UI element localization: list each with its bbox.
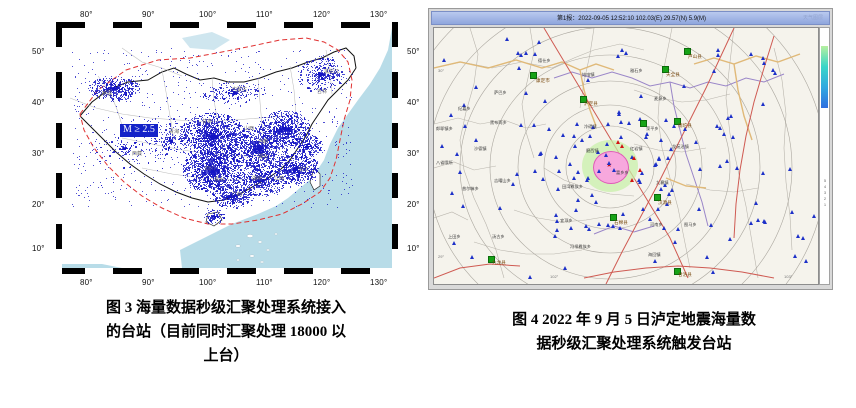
triggered-station-icon — [624, 51, 628, 55]
lon-tick-bottom-1: 90° — [142, 278, 155, 287]
figure-3-caption-line-1: 图 3 海量数据秒级汇聚处理系统接入 — [26, 296, 426, 320]
triggered-station-icon — [659, 187, 663, 191]
svg-text:30°: 30° — [438, 68, 444, 73]
triggered-station-icon — [641, 207, 645, 211]
triggered-station-icon — [498, 206, 502, 210]
alert-station-icon — [616, 140, 620, 144]
province-label-7: 山西 — [244, 125, 254, 132]
triggered-station-icon — [449, 113, 453, 117]
triggered-station-icon — [712, 69, 716, 73]
triggered-station-icon — [761, 102, 765, 106]
triggered-station-icon — [563, 266, 567, 270]
triggered-station-icon — [709, 223, 713, 227]
triggered-station-icon — [463, 124, 467, 128]
province-label-15: 广西 — [232, 191, 242, 198]
china-map-frame: 80° 90° 100° 110° 120° 130° 80° 90° 100°… — [32, 4, 422, 292]
triggered-station-icon — [586, 176, 590, 180]
figure-3-caption-line-3: 上台） — [26, 344, 426, 368]
lon-tick-top-1: 90° — [142, 10, 155, 19]
province-label-5: 西藏 — [132, 150, 142, 157]
triggered-station-icon — [470, 255, 474, 259]
triggered-station-icon — [697, 207, 701, 211]
province-label-13: 江西 — [274, 175, 284, 182]
place-label-2: 姑咱镇 — [582, 72, 595, 78]
lat-tick-left-1: 40° — [32, 98, 45, 107]
luding-map-canvas[interactable]: 102° 103° 30° 29° ★ 德仕乡康定市姑咱镇雅石乡天全县沪定县麦泉… — [433, 27, 819, 285]
triggered-station-icon — [537, 40, 541, 44]
triggered-station-icon — [556, 187, 560, 191]
triggered-station-icon — [793, 254, 797, 258]
triggered-station-icon — [715, 124, 719, 128]
alert-station-icon — [620, 144, 624, 148]
triggered-station-icon — [618, 226, 622, 230]
place-label-28: 图马乡 — [684, 222, 697, 228]
place-label-24: 汉源县 — [658, 200, 672, 206]
triggered-station-icon — [664, 118, 668, 122]
triggered-station-icon — [461, 204, 465, 208]
triggered-station-icon — [505, 37, 509, 41]
triggered-station-icon — [576, 170, 580, 174]
province-label-4: 青海 — [169, 128, 179, 135]
place-label-27: 河南乡 — [650, 222, 663, 228]
triggered-station-icon — [572, 134, 576, 138]
triggered-station-icon — [619, 120, 623, 124]
lat-tick-right-2: 30° — [407, 149, 420, 158]
lat-tick-left-4: 10° — [32, 244, 45, 253]
place-label-20: 九襄镇 — [656, 180, 669, 186]
triggered-station-icon — [590, 193, 594, 197]
triggered-station-icon — [533, 169, 537, 173]
lat-tick-left-3: 20° — [32, 200, 45, 209]
triggered-station-icon — [604, 153, 608, 157]
earthquake-report-title: 第1报：2022-09-05 12:52:10 102.03(E) 29.57(… — [432, 13, 831, 22]
triggered-station-icon — [569, 226, 573, 230]
lon-tick-top-3: 110° — [256, 10, 273, 19]
triggered-station-icon — [474, 85, 478, 89]
triggered-station-icon — [771, 68, 775, 72]
triggered-station-icon — [804, 259, 808, 263]
triggered-station-icon — [762, 61, 766, 65]
triggered-station-icon — [763, 220, 767, 224]
triggered-station-icon — [517, 66, 521, 70]
place-label-4: 天全县 — [666, 72, 680, 78]
triggered-station-icon — [541, 177, 545, 181]
lat-tick-left-2: 30° — [32, 149, 45, 158]
triggered-station-icon — [648, 217, 652, 221]
triggered-station-icon — [644, 135, 648, 139]
lon-tick-top-0: 80° — [80, 10, 93, 19]
triggered-station-icon — [722, 132, 726, 136]
lat-tick-right-4: 10° — [407, 244, 420, 253]
eew-application-window: 第1报：2022-09-05 12:52:10 102.03(E) 29.57(… — [428, 8, 833, 290]
triggered-station-icon — [594, 200, 598, 204]
scale-tick-group: 54321 — [821, 178, 829, 208]
lon-tick-bottom-5: 130° — [370, 278, 387, 287]
legend-sidepanel[interactable]: 54321 — [819, 27, 830, 285]
border-band-top — [56, 22, 398, 28]
triggered-station-icon — [682, 84, 686, 88]
triggered-station-icon — [731, 135, 735, 139]
triggered-station-icon — [553, 234, 557, 238]
weather-layer-label: 天气图层 — [803, 14, 823, 21]
triggered-station-icon — [554, 213, 558, 217]
triggered-station-icon — [694, 140, 698, 144]
triggered-station-icon — [761, 56, 765, 60]
triggered-station-icon — [575, 122, 579, 126]
place-label-5: 沪定县 — [584, 101, 598, 107]
triggered-station-icon — [586, 78, 590, 82]
figure-4-caption-line-1: 图 4 2022 年 9 月 5 日泸定地震海量数 — [432, 308, 836, 332]
alert-station-icon — [630, 178, 634, 182]
triggered-station-icon — [656, 207, 660, 211]
lon-tick-top-5: 130° — [370, 10, 387, 19]
triggered-station-icon — [653, 259, 657, 263]
triggered-station-icon — [659, 138, 663, 142]
triggered-station-icon — [561, 133, 565, 137]
triggered-station-icon — [705, 255, 709, 259]
triggered-station-icon — [511, 182, 515, 186]
place-label-7: 萨巴乡 — [494, 90, 507, 96]
triggered-station-icon — [639, 94, 643, 98]
triggered-station-icon — [653, 163, 657, 167]
triggered-station-icon — [573, 144, 577, 148]
intensity-color-scale — [821, 46, 828, 108]
place-label-9: 黑布两乡 — [490, 120, 507, 126]
place-label-18: 磨西镇 — [586, 148, 599, 154]
triggered-station-icon — [698, 167, 702, 171]
triggered-station-icon — [580, 138, 584, 142]
place-label-13: 雨坨县 — [678, 123, 692, 129]
place-label-32: 海回镇 — [648, 252, 661, 258]
china-map-canvas: 新疆内蒙古黑龙江吉林青海西藏甘肃山西河南湖北四川贵州湖南江西浙江广西 M ≥ 2… — [62, 28, 392, 268]
figure-4: 第1报：2022-09-05 12:52:10 102.03(E) 29.57(… — [428, 8, 833, 290]
place-label-11: 冷碛镇 — [584, 124, 597, 130]
triggered-station-icon — [773, 71, 777, 75]
lat-tick-right-0: 50° — [407, 47, 420, 56]
triggered-station-icon — [576, 198, 580, 202]
place-label-6: 麦泉乡 — [654, 96, 667, 102]
province-label-14: 浙江 — [298, 166, 308, 173]
triggered-station-icon — [574, 208, 578, 212]
triggered-station-icon — [452, 241, 456, 245]
triggered-station-icon — [605, 142, 609, 146]
province-label-12: 湖南 — [252, 175, 262, 182]
triggered-station-icon — [597, 222, 601, 226]
triggered-station-icon — [749, 221, 753, 225]
triggered-station-icon — [749, 52, 753, 56]
triggered-station-icon — [617, 110, 621, 114]
place-label-34: 甘洛县 — [678, 272, 692, 278]
triggered-station-icon — [637, 178, 641, 182]
svg-text:29°: 29° — [438, 254, 444, 259]
triggered-station-icon — [667, 192, 671, 196]
border-band-bottom — [56, 268, 398, 274]
triggered-station-icon — [627, 121, 631, 125]
province-label-9: 湖北 — [258, 153, 268, 160]
figure-3-caption: 图 3 海量数据秒级汇聚处理系统接入 的台站（目前同时汇聚处理 18000 以 … — [26, 296, 426, 368]
triggered-station-icon — [606, 122, 610, 126]
triggered-station-icon — [557, 169, 561, 173]
place-label-19: 富乡乡 — [616, 170, 629, 176]
triggered-station-icon — [458, 170, 462, 174]
place-label-1: 康定市 — [536, 78, 550, 84]
province-label-1: 内蒙古 — [232, 86, 247, 93]
triggered-station-icon — [666, 156, 670, 160]
triggered-station-icon — [670, 188, 674, 192]
lon-tick-top-2: 100° — [199, 10, 216, 19]
lon-tick-bottom-3: 110° — [256, 278, 273, 287]
lon-tick-bottom-0: 80° — [80, 278, 93, 287]
place-label-3: 雅石乡 — [630, 68, 643, 74]
triggered-station-icon — [607, 161, 611, 165]
triggered-station-icon — [801, 236, 805, 240]
province-label-8: 河南 — [258, 138, 268, 145]
border-band-left — [56, 22, 62, 274]
triggered-station-icon — [555, 219, 559, 223]
svg-text:103°: 103° — [784, 274, 793, 279]
triggered-station-icon — [619, 135, 623, 139]
triggered-station-icon — [524, 51, 528, 55]
place-label-15: 八省哦所 — [436, 160, 453, 166]
triggered-station-icon — [543, 99, 547, 103]
triggered-station-icon — [735, 166, 739, 170]
province-label-0: 新疆 — [102, 90, 112, 97]
place-label-21: 吉曜山乡 — [494, 178, 511, 184]
triggered-station-icon — [716, 53, 720, 57]
alert-station-icon — [632, 156, 636, 160]
place-label-10: 郎耶镇乡 — [436, 126, 453, 132]
place-label-22: 普尔嘛乡 — [462, 186, 479, 192]
triggered-station-icon — [812, 214, 816, 218]
place-label-25: 石棉县 — [614, 220, 628, 226]
triggered-station-icon — [524, 91, 528, 95]
triggered-station-icon — [718, 164, 722, 168]
lon-tick-top-4: 120° — [313, 10, 330, 19]
place-label-17: 龙苑治镇 — [672, 144, 689, 150]
province-label-10: 四川 — [205, 165, 215, 172]
figure-4-caption-line-2: 据秒级汇聚处理系统触发台站 — [432, 332, 836, 356]
triggered-station-icon — [440, 144, 444, 148]
place-label-30: 汤古乡 — [492, 234, 505, 240]
svg-text:102°: 102° — [550, 274, 559, 279]
figure-4-caption: 图 4 2022 年 9 月 5 日泸定地震海量数 据秒级汇聚处理系统触发台站 — [432, 308, 836, 356]
triggered-station-icon — [474, 138, 478, 142]
place-label-29: 上田乡 — [448, 234, 461, 240]
place-label-35: 芦山县 — [688, 54, 702, 60]
triggered-station-icon — [728, 237, 732, 241]
triggered-station-icon — [616, 54, 620, 58]
place-label-26: 宜顶乡 — [560, 218, 573, 224]
triggered-station-icon — [547, 127, 551, 131]
lat-tick-right-3: 20° — [407, 200, 420, 209]
triggered-station-icon — [790, 210, 794, 214]
triggered-station-icon — [568, 162, 572, 166]
triggered-station-icon — [587, 227, 591, 231]
window-titlebar: 第1报：2022-09-05 12:52:10 102.03(E) 29.57(… — [431, 11, 830, 25]
figure-page: 80° 90° 100° 110° 120° 130° 80° 90° 100°… — [0, 0, 856, 408]
lon-tick-bottom-2: 100° — [199, 278, 216, 287]
triggered-station-icon — [450, 191, 454, 195]
triggered-station-icon — [761, 171, 765, 175]
province-label-3: 吉林 — [317, 88, 327, 95]
triggered-station-icon — [676, 227, 680, 231]
triggered-station-icon — [729, 114, 733, 118]
triggered-station-icon — [555, 228, 559, 232]
place-label-8: 纪嘉乡 — [458, 106, 471, 112]
alert-station-icon — [638, 168, 642, 172]
place-label-14: 沙德镇 — [474, 146, 487, 152]
place-label-31: 冯坝彝族乡 — [570, 244, 591, 250]
province-label-2: 黑龙江 — [324, 68, 339, 75]
triggered-station-icon — [588, 134, 592, 138]
triggered-station-icon — [516, 51, 520, 55]
triggered-station-icon — [620, 48, 624, 52]
triggered-station-icon — [725, 159, 729, 163]
triggered-station-icon — [442, 58, 446, 62]
triggered-station-icon — [538, 152, 542, 156]
triggered-station-icon — [597, 169, 601, 173]
triggered-station-icon — [455, 152, 459, 156]
triggered-station-icon — [657, 157, 661, 161]
triggered-station-icon — [515, 172, 519, 176]
triggered-station-icon — [533, 52, 537, 56]
triggered-station-icon — [754, 201, 758, 205]
triggered-station-icon — [788, 167, 792, 171]
triggered-station-icon — [554, 155, 558, 159]
place-label-16: 红岩镇 — [630, 146, 643, 152]
border-band-right — [392, 22, 398, 274]
triggered-station-icon — [528, 275, 532, 279]
place-label-23: 田湾彝族乡 — [562, 184, 583, 190]
lon-tick-bottom-4: 120° — [313, 278, 330, 287]
station-dot-layer — [62, 28, 392, 268]
place-label-0: 德仕乡 — [538, 58, 551, 64]
triggered-station-icon — [673, 240, 677, 244]
lat-tick-right-1: 40° — [407, 98, 420, 107]
triggered-station-icon — [606, 223, 610, 227]
figure-3-caption-line-2: 的台站（目前同时汇聚处理 18000 以 — [26, 320, 426, 344]
triggered-station-icon — [572, 176, 576, 180]
place-label-12: 荥平乡 — [646, 126, 659, 132]
triggered-station-icon — [711, 270, 715, 274]
triggered-station-icon — [519, 123, 523, 127]
lat-tick-left-0: 50° — [32, 47, 45, 56]
magnitude-threshold-label: M ≥ 2.5 — [120, 124, 158, 137]
triggered-station-icon — [621, 212, 625, 216]
triggered-station-icon — [756, 218, 760, 222]
province-label-6: 甘肃 — [202, 118, 212, 125]
scale-tick-4: 1 — [821, 202, 829, 208]
triggered-station-icon — [532, 123, 536, 127]
triggered-station-icon — [584, 224, 588, 228]
province-label-11: 贵州 — [214, 176, 224, 183]
place-label-33: 九龙县 — [492, 260, 506, 266]
figure-3: 80° 90° 100° 110° 120° 130° 80° 90° 100°… — [32, 4, 422, 292]
